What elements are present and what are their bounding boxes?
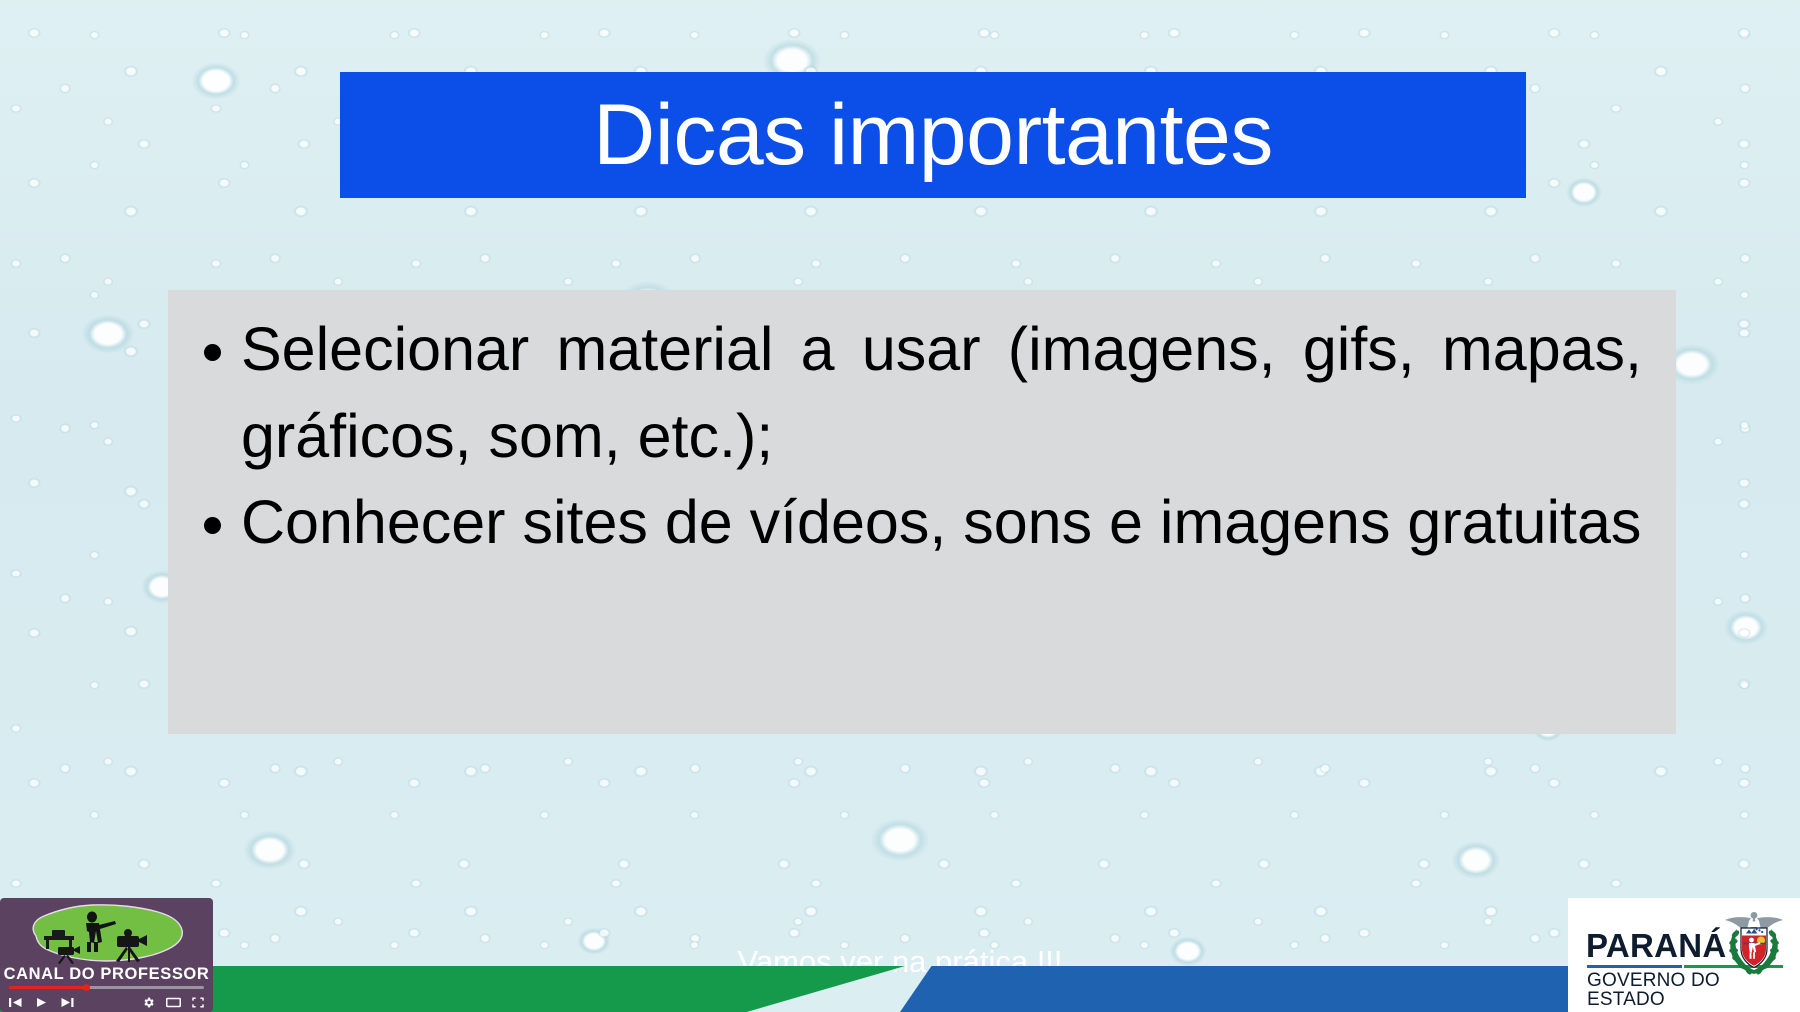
canal-logo-title: CANAL DO PROFESSOR	[0, 966, 213, 983]
bottom-ribbon	[0, 966, 1800, 1012]
video-progress-bar[interactable]	[9, 986, 204, 989]
presentation-slide: Dicas importantes Selecionar material a …	[0, 0, 1800, 1012]
previous-track-icon[interactable]	[9, 997, 22, 1008]
parana-rule-blue	[1587, 965, 1682, 968]
bullet-text: Conhecer sites de vídeos, sons e imagens…	[241, 479, 1642, 566]
video-progress-fill	[9, 986, 83, 989]
gear-icon[interactable]	[142, 996, 155, 1009]
bullet-dot-icon	[204, 517, 221, 534]
bullet-dot-icon	[204, 344, 221, 361]
parana-coat-of-arms-icon	[1718, 907, 1790, 979]
fullscreen-icon[interactable]	[192, 997, 204, 1008]
bullet-text: Selecionar material a usar (imagens, gif…	[241, 306, 1642, 479]
page-title: Dicas importantes	[593, 92, 1273, 178]
video-player-controls	[9, 994, 204, 1010]
theater-mode-icon[interactable]	[166, 997, 181, 1008]
video-progress-knob[interactable]	[83, 984, 90, 991]
canal-do-professor-logo[interactable]: CANAL DO PROFESSOR	[0, 898, 213, 1012]
list-item: Selecionar material a usar (imagens, gif…	[168, 290, 1676, 479]
parana-map-illustration	[0, 900, 213, 966]
content-box: Selecionar material a usar (imagens, gif…	[168, 290, 1676, 734]
slide-title-bar: Dicas importantes	[340, 72, 1526, 198]
next-track-icon[interactable]	[61, 997, 74, 1008]
list-item: Conhecer sites de vídeos, sons e imagens…	[168, 479, 1676, 566]
play-icon[interactable]	[36, 997, 47, 1008]
parana-government-logo[interactable]: PARANÁ GOVERNO DO ESTADO	[1568, 898, 1800, 1012]
parana-logo-word: PARANÁ	[1586, 929, 1727, 962]
